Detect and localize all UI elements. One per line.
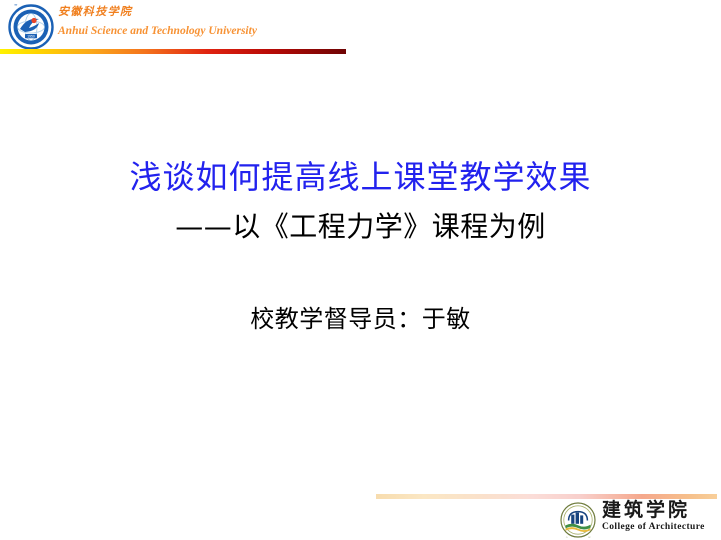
college-branding-text: 建筑学院 College of Architecture	[602, 500, 718, 533]
college-of-architecture-emblem-icon: 建 筑 学 院 COLLEGE OF ARCHITECTURE	[560, 502, 596, 538]
presenter-line: 校教学督导员：于敏	[0, 299, 721, 334]
university-branding: 安徽科技学院 Anhui Science and Technology Univ…	[58, 4, 338, 40]
college-name-cn: 建筑学院	[602, 500, 718, 522]
slide-header: 1950 安徽科技学院 安徽科技学院 Anhui Science and Tec…	[0, 0, 721, 60]
header-gradient-rule	[0, 49, 346, 54]
anhui-science-technology-university-emblem-icon: 1950 安徽科技学院	[8, 4, 54, 50]
svg-text:1950: 1950	[27, 34, 35, 38]
page-title: 浅谈如何提高线上课堂教学效果	[0, 152, 721, 198]
slide-footer-branding: 建 筑 学 院 COLLEGE OF ARCHITECTURE 建筑学院 Col…	[560, 500, 718, 538]
presentation-slide: 1950 安徽科技学院 安徽科技学院 Anhui Science and Tec…	[0, 0, 721, 540]
footer-gradient-rule	[376, 494, 717, 499]
college-name-en: College of Architecture	[602, 522, 718, 533]
university-name-en: Anhui Science and Technology University	[58, 23, 338, 40]
university-name-cn: 安徽科技学院	[58, 4, 338, 20]
page-subtitle: ——以《工程力学》课程为例	[0, 205, 721, 245]
